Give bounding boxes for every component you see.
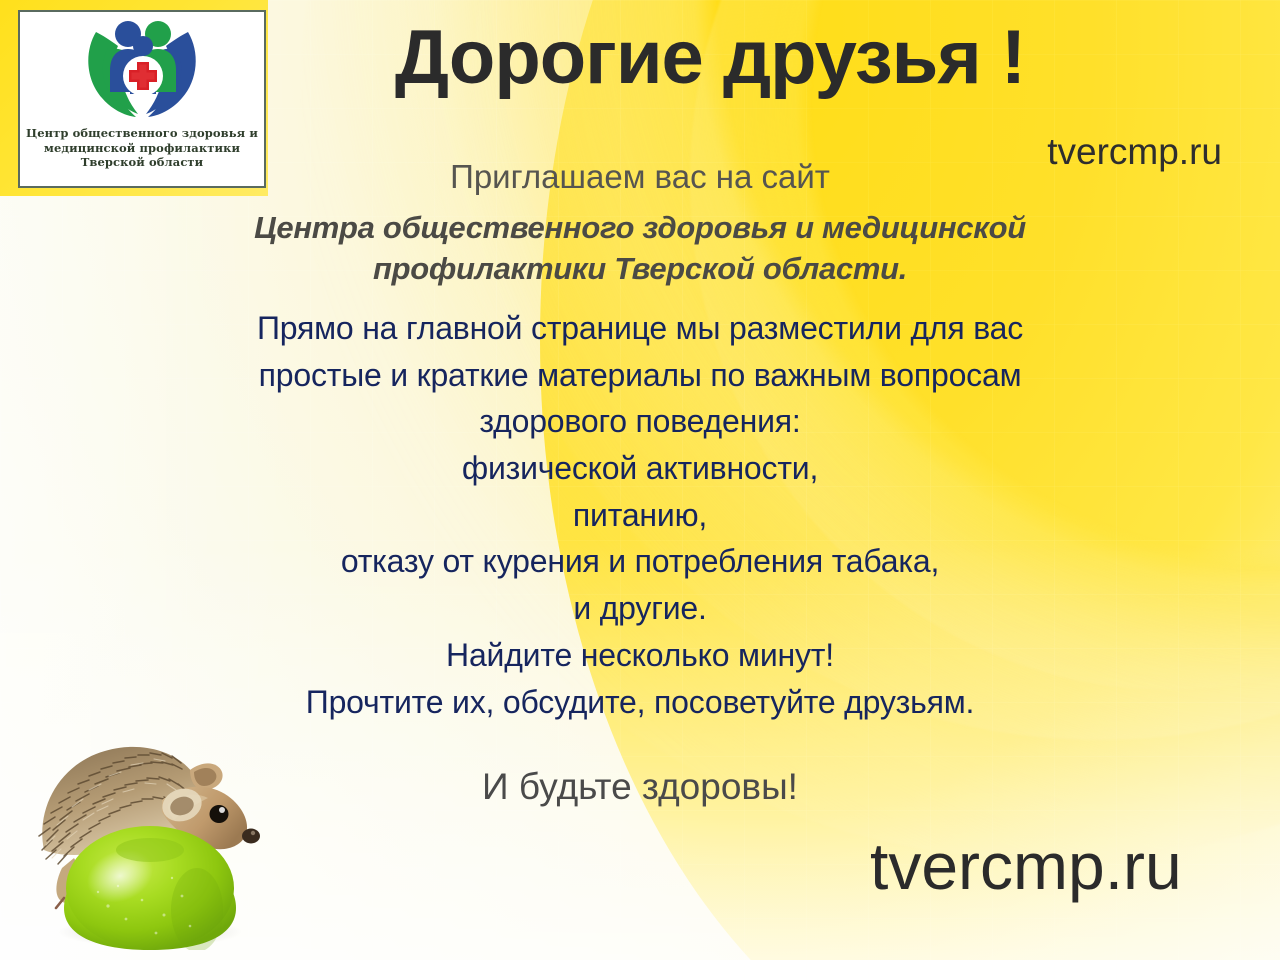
hedgehog-on-apple-illustration xyxy=(22,700,292,950)
spacer xyxy=(170,198,1110,208)
main-line-6: отказу от курения и потребления табака, xyxy=(170,538,1110,585)
main-line-9: Прочтите их, обсудите, посоветуйте друзь… xyxy=(170,679,1110,726)
main-line-4: физической активности, xyxy=(170,445,1110,492)
logo-caption-line-2: медицинской профилактики xyxy=(26,141,258,156)
closing-line: И будьте здоровы! xyxy=(170,765,1110,809)
spacer xyxy=(170,289,1110,305)
logo-mark-icon xyxy=(80,18,204,124)
page-title: Дорогие друзья ! xyxy=(360,20,1060,96)
logo-caption-line-1: Центр общественного здоровья и xyxy=(26,126,258,141)
body-text-block: Приглашаем вас на сайт Центра общественн… xyxy=(170,156,1110,810)
spacer xyxy=(170,725,1110,765)
slide-root: Центр общественного здоровья и медицинск… xyxy=(0,0,1280,960)
main-line-1: Прямо на главной странице мы разместили … xyxy=(170,305,1110,352)
invite-line: Приглашаем вас на сайт xyxy=(170,156,1110,198)
main-line-5: питанию, xyxy=(170,492,1110,539)
main-line-3: здорового поведения: xyxy=(170,398,1110,445)
main-line-8: Найдите несколько минут! xyxy=(170,632,1110,679)
site-url-bottom[interactable]: tvercmp.ru xyxy=(870,833,1182,899)
org-name-line-1: Центра общественного здоровья и медицинс… xyxy=(170,208,1110,248)
org-name-line-2: профилактики Тверской области. xyxy=(170,249,1110,289)
main-line-7: и другие. xyxy=(170,585,1110,632)
main-line-2: простые и краткие материалы по важным во… xyxy=(170,352,1110,399)
